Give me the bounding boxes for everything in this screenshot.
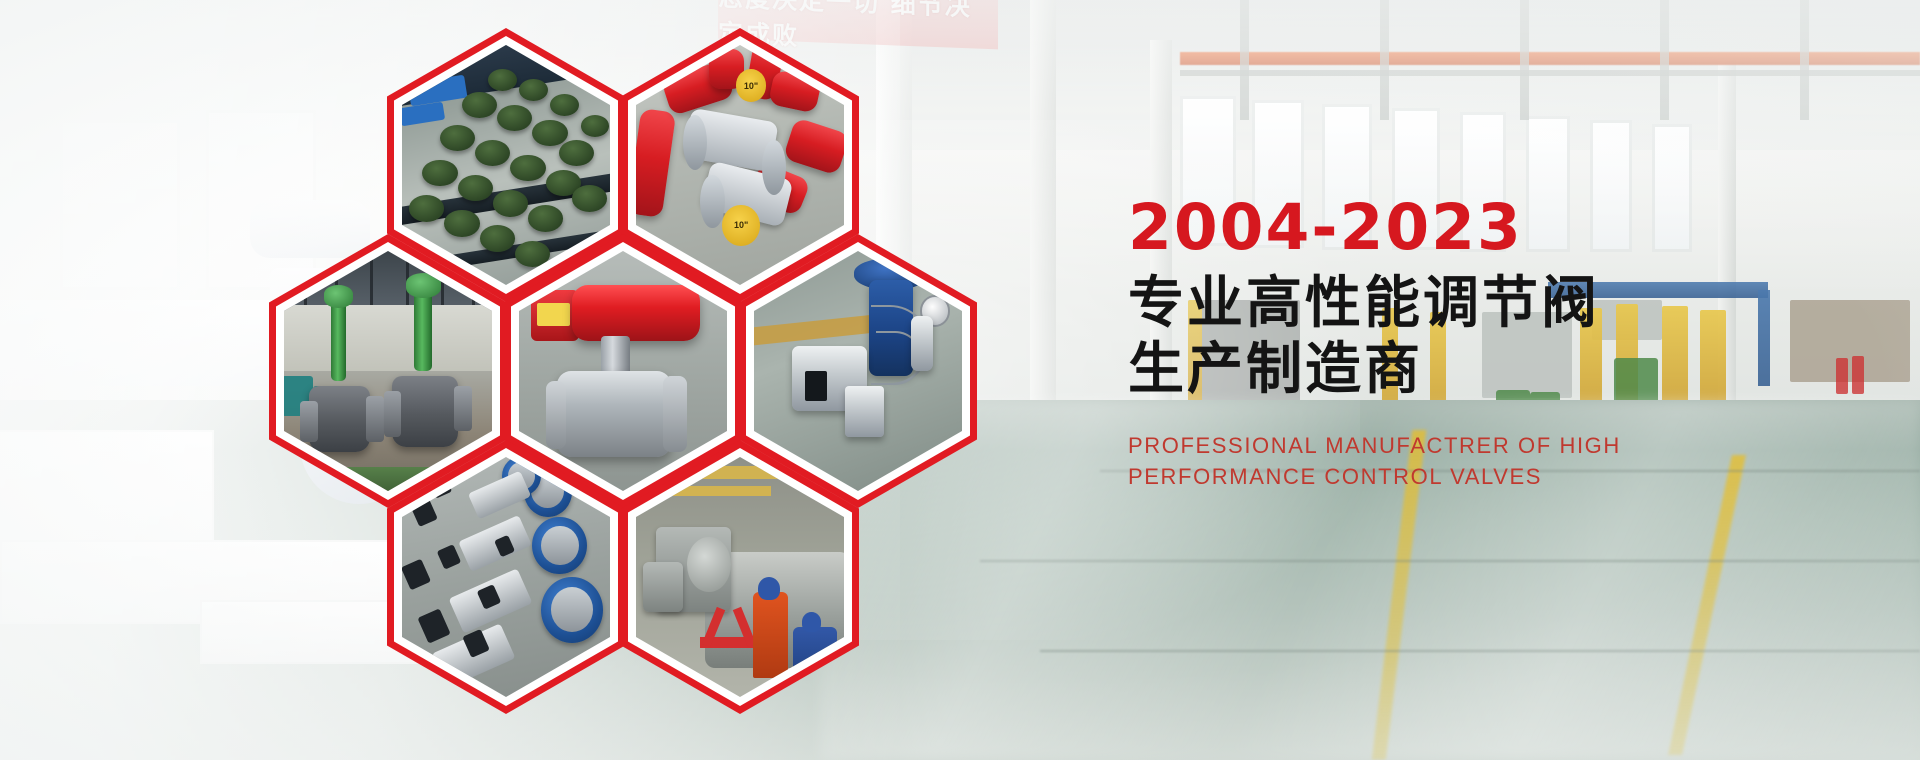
headline-chinese-line-2: 生产制造商 — [1128, 337, 1828, 403]
hex-bottom-left[interactable] — [387, 440, 625, 714]
hero-banner: 态度决定一切 细节决定成败 — [0, 0, 1920, 760]
subtitle-line-1: PROFESSIONAL MANUFACTRER OF HIGH — [1128, 431, 1828, 461]
headline-text-block: 2004-2023 专业高性能调节阀 生产制造商 PROFESSIONAL MA… — [1128, 196, 1828, 492]
years-headline: 2004-2023 — [1128, 196, 1828, 259]
subtitle-line-2: PERFORMANCE CONTROL VALVES — [1128, 462, 1828, 492]
headline-chinese-line-1: 专业高性能调节阀 — [1128, 271, 1828, 337]
subtitle-english: PROFESSIONAL MANUFACTRER OF HIGH PERFORM… — [1128, 431, 1828, 492]
hexagon-photo-cluster: 10" 10" — [255, 22, 995, 742]
hex-bottom-right[interactable] — [621, 440, 859, 714]
